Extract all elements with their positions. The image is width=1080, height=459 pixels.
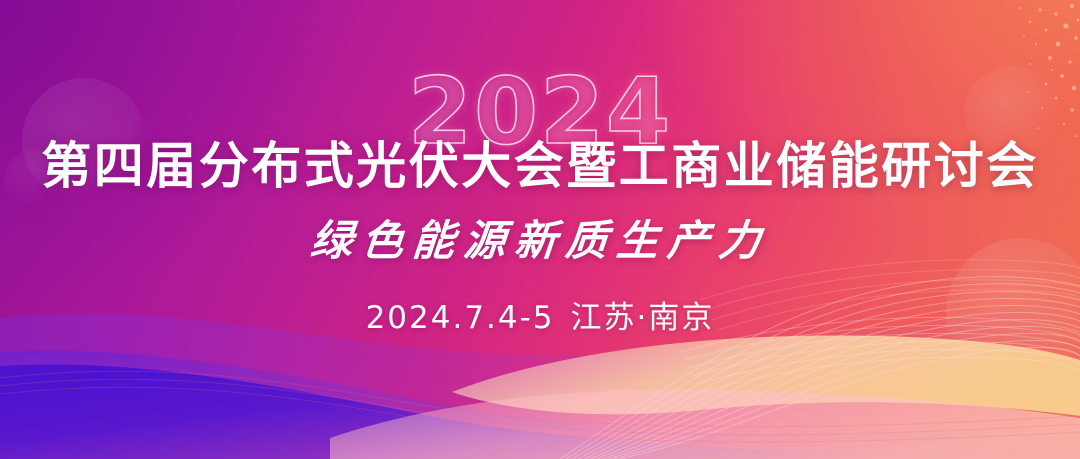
- slogan-text: 绿色能源新质生产力: [0, 216, 1080, 266]
- page-title: 第四届分布式光伏大会暨工商业储能研讨会: [0, 138, 1080, 194]
- conference-banner: 2024 第四届分布式光伏大会暨工商业储能研讨会 绿色能源新质生产力 2024.…: [0, 0, 1080, 459]
- date-location-line: 2024.7.4-5江苏·南京: [0, 300, 1080, 337]
- banner-content: 2024 第四届分布式光伏大会暨工商业储能研讨会 绿色能源新质生产力 2024.…: [0, 0, 1080, 459]
- event-date: 2024.7.4-5: [366, 300, 555, 336]
- event-location: 江苏·南京: [571, 300, 715, 336]
